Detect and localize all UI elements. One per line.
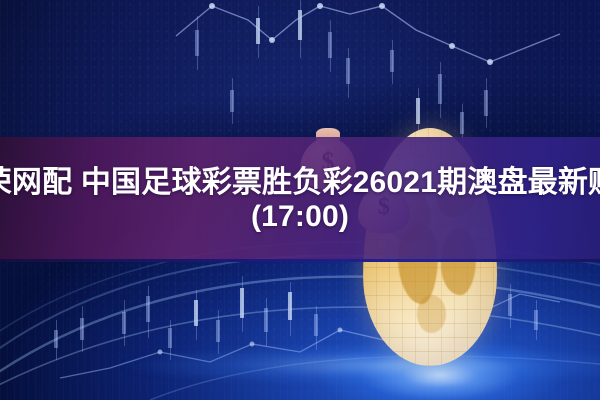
title-block: 佳荣网配 中国足球彩票胜负彩26021期澳盘最新赔率 (17:00) [0, 137, 600, 262]
banner-image: $ $ 佳荣网配 中国足球彩票胜负彩26021期澳盘最新赔率 (17:00) [0, 0, 600, 400]
headline-time-text: (17:00) [251, 201, 349, 233]
continent-shape [417, 295, 446, 333]
headline-text: 佳荣网配 中国足球彩票胜负彩26021期澳盘最新赔率 [0, 167, 600, 199]
horizon-glow [0, 330, 600, 400]
stock-line-nodes-top [209, 3, 493, 65]
stock-line-chart-top [176, 6, 560, 62]
